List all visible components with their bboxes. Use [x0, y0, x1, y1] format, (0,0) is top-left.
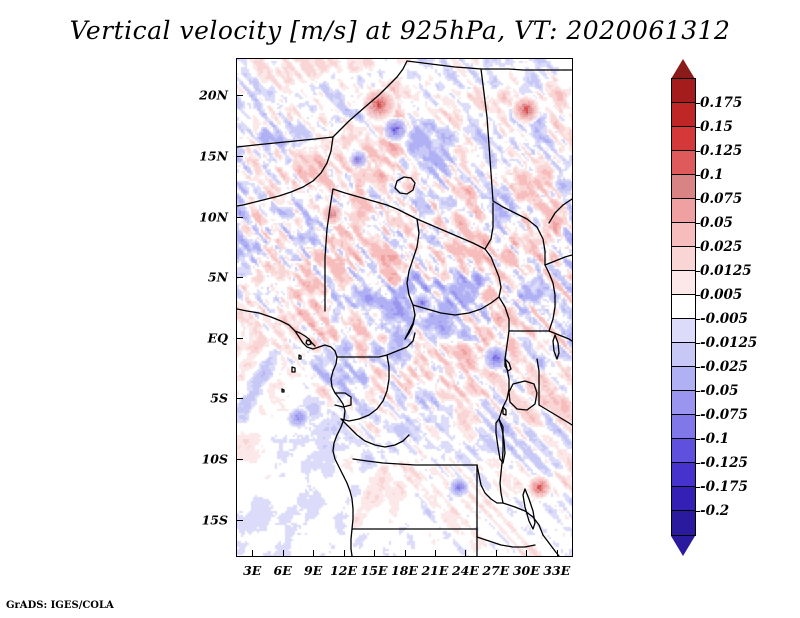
colorbar-tick-label: 0.005 [700, 287, 742, 303]
colorbar-under-arrow [671, 536, 695, 556]
footer-credit: GrADS: IGES/COLA [6, 600, 114, 611]
y-axis-tick [237, 277, 243, 278]
colorbar-band [672, 391, 695, 415]
coastline-niger-delta [295, 331, 315, 346]
colorbar-tick-mark [695, 127, 700, 128]
colorbar-band [672, 127, 695, 151]
x-axis-label-24e: 24E [452, 563, 479, 578]
colorbar-tick-label: -0.05 [700, 383, 738, 399]
border-nigeria-cameroon [405, 219, 419, 339]
border-sudan-ethiopia-east [545, 255, 572, 265]
y-axis-label-10n: 10N [178, 209, 228, 224]
y-axis-tick [237, 217, 243, 218]
colorbar-tick-label: 0.025 [700, 239, 742, 255]
border-gabon-congo [341, 355, 389, 421]
y-axis-tick [237, 459, 243, 460]
colorbar-band [672, 79, 695, 103]
border-chad-libya [481, 69, 551, 70]
x-axis-tick [465, 550, 466, 556]
colorbar-tick-mark [695, 199, 700, 200]
border-car-sudan [485, 203, 493, 249]
map-plot-area [236, 58, 573, 557]
colorbar-tick-mark [695, 367, 700, 368]
colorbar-tick-mark [695, 223, 700, 224]
colorbar-tick-mark [695, 175, 700, 176]
x-axis-label-6e: 6E [274, 563, 292, 578]
x-axis-tick [405, 550, 406, 556]
x-axis-tick [252, 550, 253, 556]
colorbar-band [672, 439, 695, 463]
colorbar-tick-label: -0.175 [700, 479, 748, 495]
border-ethiopia-kenya [549, 331, 572, 341]
colorbar-tick-label: 0.075 [700, 191, 742, 207]
colorbar-tick-mark [695, 487, 700, 488]
colorbar-tick-label: 0.175 [700, 95, 742, 111]
x-axis-tick [344, 550, 345, 556]
border-ssudan-ethiopia [545, 265, 555, 331]
border-chad-car [417, 219, 485, 249]
colorbar-band [672, 295, 695, 319]
x-axis-label-15e: 15E [361, 563, 388, 578]
colorbar-band [672, 463, 695, 487]
x-axis-label-9e: 9E [304, 563, 322, 578]
y-axis-label-15s: 15S [178, 512, 228, 527]
colorbar-tick-mark [695, 271, 700, 272]
border-cameroon-car [405, 315, 415, 339]
colorbar-band [672, 319, 695, 343]
y-axis-label-15n: 15N [178, 148, 228, 163]
colorbar-over-arrow [671, 59, 695, 79]
lake-victoria [509, 381, 537, 410]
x-axis-tick [283, 550, 284, 556]
border-drc-angola [353, 459, 477, 465]
x-axis-tick [496, 550, 497, 556]
border-mali-niger [237, 137, 333, 206]
x-axis-label-30e: 30E [513, 563, 540, 578]
colorbar-band [672, 511, 695, 535]
border-car-congo [413, 297, 499, 315]
colorbar-tick-label: 0.125 [700, 143, 742, 159]
island-principe [299, 355, 301, 359]
coastline-atlantic [237, 309, 353, 556]
x-axis-tick [435, 550, 436, 556]
colorbar-tick-mark [695, 511, 700, 512]
colorbar-tick-mark [695, 247, 700, 248]
y-axis-label-10s: 10S [178, 452, 228, 467]
y-axis-tick [237, 398, 243, 399]
x-axis-label-21e: 21E [421, 563, 448, 578]
island-bioko [306, 340, 311, 345]
x-axis-label-18e: 18E [391, 563, 418, 578]
lake-malawi [523, 489, 535, 529]
y-axis-label-20n: 20N [178, 88, 228, 103]
colorbar-tick-label: -0.075 [700, 407, 748, 423]
colorbar-band [672, 103, 695, 127]
y-axis-label-5s: 5S [178, 391, 228, 406]
border-chad-sudan [481, 69, 493, 201]
colorbar-tick-label: -0.125 [700, 455, 748, 471]
border-drc-uganda-rwanda [499, 359, 509, 419]
colorbar-band [672, 247, 695, 271]
border-cameroon-gabon [337, 355, 387, 357]
colorbar-band [672, 151, 695, 175]
border-zambia-zimbabwe [477, 537, 535, 547]
border-drc-congo [341, 419, 409, 447]
border-drc-zambia [477, 465, 503, 503]
border-kenya-tanzania [539, 405, 572, 425]
colorbar-band [672, 487, 695, 511]
lake-kivu [503, 407, 506, 415]
colorbar-tick-label: -0.005 [700, 311, 748, 327]
x-axis-label-12e: 12E [330, 563, 357, 578]
lake-turkana [553, 335, 559, 359]
x-axis-tick [557, 550, 558, 556]
colorbar-tick-label: 0.0125 [700, 263, 752, 279]
page-title: Vertical velocity [m/s] at 925hPa, VT: 2… [0, 16, 800, 45]
colorbar [671, 78, 696, 536]
y-axis-tick [237, 156, 243, 157]
x-axis-label-3e: 3E [243, 563, 261, 578]
colorbar-tick-label: -0.1 [700, 431, 729, 447]
lake-chad [395, 177, 415, 194]
colorbar-tick-mark [695, 439, 700, 440]
colorbar-band [672, 223, 695, 247]
colorbar-tick-mark [695, 319, 700, 320]
border-tanzania-zambia-malawi [503, 503, 543, 535]
x-axis-tick [374, 550, 375, 556]
colorbar-band [672, 343, 695, 367]
coastline-and-borders-overlay [237, 59, 572, 556]
colorbar-tick-mark [695, 415, 700, 416]
border-car-ssudan [485, 249, 501, 297]
x-axis-label-27e: 27E [482, 563, 509, 578]
x-axis-tick [313, 550, 314, 556]
colorbar-band [672, 175, 695, 199]
colorbar-tick-label: 0.05 [700, 215, 733, 231]
x-axis-tick [526, 550, 527, 556]
colorbar-band [672, 271, 695, 295]
colorbar-tick-mark [695, 103, 700, 104]
y-axis-label-5n: 5N [178, 270, 228, 285]
border-cameroon-congo [387, 333, 415, 355]
y-axis-label-eq: EQ [178, 330, 228, 345]
border-niger-algeria-libya [333, 61, 407, 137]
colorbar-band [672, 415, 695, 439]
colorbar-tick-label: -0.025 [700, 359, 748, 375]
border-drc-ssudan [499, 297, 509, 359]
colorbar-tick-mark [695, 391, 700, 392]
border-nigeria-west [325, 189, 333, 311]
border-sudan-ssudan [493, 201, 545, 265]
island-sao-tome [292, 367, 295, 372]
colorbar-tick-label: 0.1 [700, 167, 724, 183]
y-axis-tick [237, 95, 243, 96]
y-axis-tick [237, 338, 243, 339]
colorbar-tick-mark [695, 463, 700, 464]
colorbar-band [672, 199, 695, 223]
y-axis-tick [237, 520, 243, 521]
border-mali-algeria [237, 137, 333, 147]
border-uganda-kenya [537, 359, 539, 405]
colorbar-tick-mark [695, 295, 700, 296]
colorbar-tick-mark [695, 343, 700, 344]
colorbar-band [672, 367, 695, 391]
colorbar-tick-mark [695, 151, 700, 152]
island-annobon [282, 389, 284, 392]
x-axis-label-33e: 33E [543, 563, 570, 578]
border-niger-libya-chad [407, 61, 481, 69]
colorbar-tick-label: -0.0125 [700, 335, 757, 351]
border-sudan-eritrea [549, 199, 572, 223]
colorbar-tick-label: -0.2 [700, 503, 729, 519]
colorbar-tick-label: 0.15 [700, 119, 733, 135]
